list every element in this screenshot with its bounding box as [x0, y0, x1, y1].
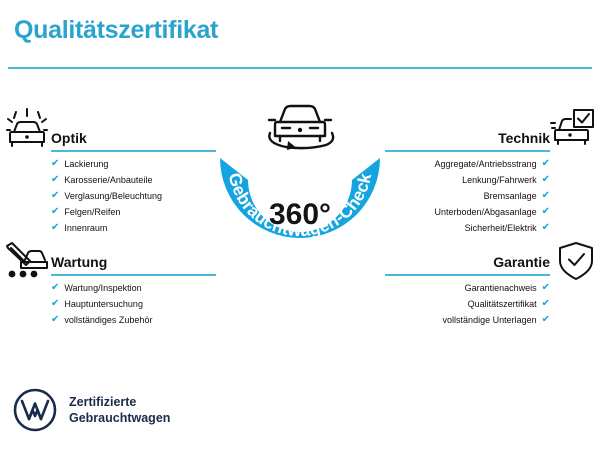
list-item: Bremsanlage✔: [385, 191, 550, 201]
list-item: Aggregate/Antriebsstrang✔: [385, 159, 550, 169]
section-garantie: Garantie Garantienachweis✔ Qualitätszert…: [385, 252, 550, 331]
list-item: ✔Hauptuntersuchung: [51, 299, 216, 309]
shield-check-icon: [553, 240, 599, 282]
list-item-label: Qualitätszertifikat: [468, 300, 537, 309]
list-item: ✔Verglasung/Beleuchtung: [51, 191, 216, 201]
list-item-label: Felgen/Reifen: [64, 208, 120, 217]
check-icon: ✔: [51, 191, 59, 201]
list-item-label: Wartung/Inspektion: [64, 284, 141, 293]
check-icon: ✔: [51, 315, 59, 325]
list-item-label: Karosserie/Anbauteile: [64, 176, 152, 185]
check-icon: ✔: [51, 283, 59, 293]
list-item: ✔Lackierung: [51, 159, 216, 169]
list-item-label: vollständiges Zubehör: [64, 316, 152, 325]
check-icon: ✔: [51, 175, 59, 185]
list-item: Garantienachweis✔: [385, 283, 550, 293]
check-icon: ✔: [542, 283, 550, 293]
section-list-wartung: ✔Wartung/Inspektion ✔Hauptuntersuchung ✔…: [51, 283, 216, 325]
section-divider-garantie: [385, 274, 550, 276]
footer-text: Zertifizierte Gebrauchtwagen: [69, 394, 170, 427]
section-list-garantie: Garantienachweis✔ Qualitätszertifikat✔ v…: [385, 283, 550, 325]
list-item: ✔Wartung/Inspektion: [51, 283, 216, 293]
check-icon: ✔: [542, 315, 550, 325]
certificate-page: Qualitätszertifikat: [0, 0, 600, 450]
check-icon: ✔: [542, 175, 550, 185]
list-item: vollständige Unterlagen✔: [385, 315, 550, 325]
section-wartung: Wartung ✔Wartung/Inspektion ✔Hauptunters…: [51, 252, 216, 331]
list-item: Sicherheit/Elektrik✔: [385, 223, 550, 233]
car-wrench-icon: [4, 240, 50, 282]
list-item-label: Lenkung/Fahrwerk: [462, 176, 537, 185]
section-optik: Optik ✔Lackierung ✔Karosserie/Anbauteile…: [51, 128, 216, 239]
car-shine-icon: [4, 108, 50, 150]
check-icon: ✔: [542, 299, 550, 309]
check-icon: ✔: [51, 299, 59, 309]
list-item-label: Innenraum: [64, 224, 107, 233]
list-item-label: Bremsanlage: [484, 192, 537, 201]
section-list-optik: ✔Lackierung ✔Karosserie/Anbauteile ✔Verg…: [51, 159, 216, 233]
check-icon: ✔: [542, 223, 550, 233]
title-divider: [8, 67, 592, 69]
section-divider-technik: [385, 150, 550, 152]
list-item: Unterboden/Abgasanlage✔: [385, 207, 550, 217]
list-item: ✔Felgen/Reifen: [51, 207, 216, 217]
check-icon: ✔: [542, 207, 550, 217]
list-item: ✔Karosserie/Anbauteile: [51, 175, 216, 185]
check-icon: ✔: [542, 159, 550, 169]
check-icon: ✔: [542, 191, 550, 201]
vw-logo-icon: [13, 388, 57, 432]
list-item-label: Aggregate/Antriebsstrang: [435, 160, 537, 169]
footer-line-1: Zertifizierte: [69, 394, 170, 411]
list-item-label: Unterboden/Abgasanlage: [435, 208, 537, 217]
list-item: ✔vollständiges Zubehör: [51, 315, 216, 325]
section-technik: Technik Aggregate/Antriebsstrang✔ Lenkun…: [385, 128, 550, 239]
list-item-label: Hauptuntersuchung: [64, 300, 143, 309]
list-item-label: Garantienachweis: [465, 284, 537, 293]
car-checkbox-icon: [550, 108, 596, 150]
section-heading-optik: Optik: [51, 128, 216, 146]
section-heading-wartung: Wartung: [51, 252, 216, 270]
section-heading-garantie: Garantie: [385, 252, 550, 270]
list-item: Qualitätszertifikat✔: [385, 299, 550, 309]
section-heading-technik: Technik: [385, 128, 550, 146]
footer-line-2: Gebrauchtwagen: [69, 410, 170, 427]
check-icon: ✔: [51, 207, 59, 217]
list-item-label: Sicherheit/Elektrik: [465, 224, 537, 233]
badge-360-ring: Gebrauchtwagen-Check 360°: [198, 140, 402, 290]
footer-brand: Zertifizierte Gebrauchtwagen: [13, 388, 170, 432]
list-item: Lenkung/Fahrwerk✔: [385, 175, 550, 185]
section-divider-wartung: [51, 274, 216, 276]
section-list-technik: Aggregate/Antriebsstrang✔ Lenkung/Fahrwe…: [385, 159, 550, 233]
list-item-label: Lackierung: [64, 160, 108, 169]
list-item: ✔Innenraum: [51, 223, 216, 233]
list-item-label: Verglasung/Beleuchtung: [64, 192, 162, 201]
list-item-label: vollständige Unterlagen: [443, 316, 537, 325]
check-icon: ✔: [51, 159, 59, 169]
page-title: Qualitätszertifikat: [14, 16, 218, 45]
check-icon: ✔: [51, 223, 59, 233]
section-divider-optik: [51, 150, 216, 152]
